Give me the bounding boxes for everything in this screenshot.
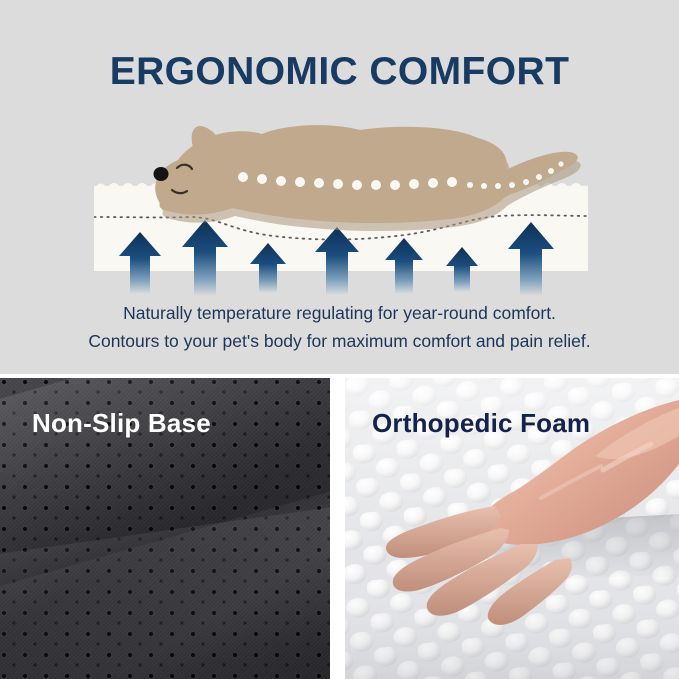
- feature-text-line-2: Contours to your pet's body for maximum …: [0, 331, 679, 352]
- panel-label-non-slip-base: Non-Slip Base: [32, 408, 211, 439]
- feature-text-line-1: Naturally temperature regulating for yea…: [0, 303, 679, 324]
- product-infographic: ERGONOMIC COMFORT: [0, 0, 679, 679]
- feature-panels-row: Non-Slip Base Orthopedic Foam: [0, 378, 679, 679]
- panel-label-orthopedic-foam: Orthopedic Foam: [372, 408, 590, 439]
- ergonomic-comfort-panel: ERGONOMIC COMFORT: [0, 0, 679, 374]
